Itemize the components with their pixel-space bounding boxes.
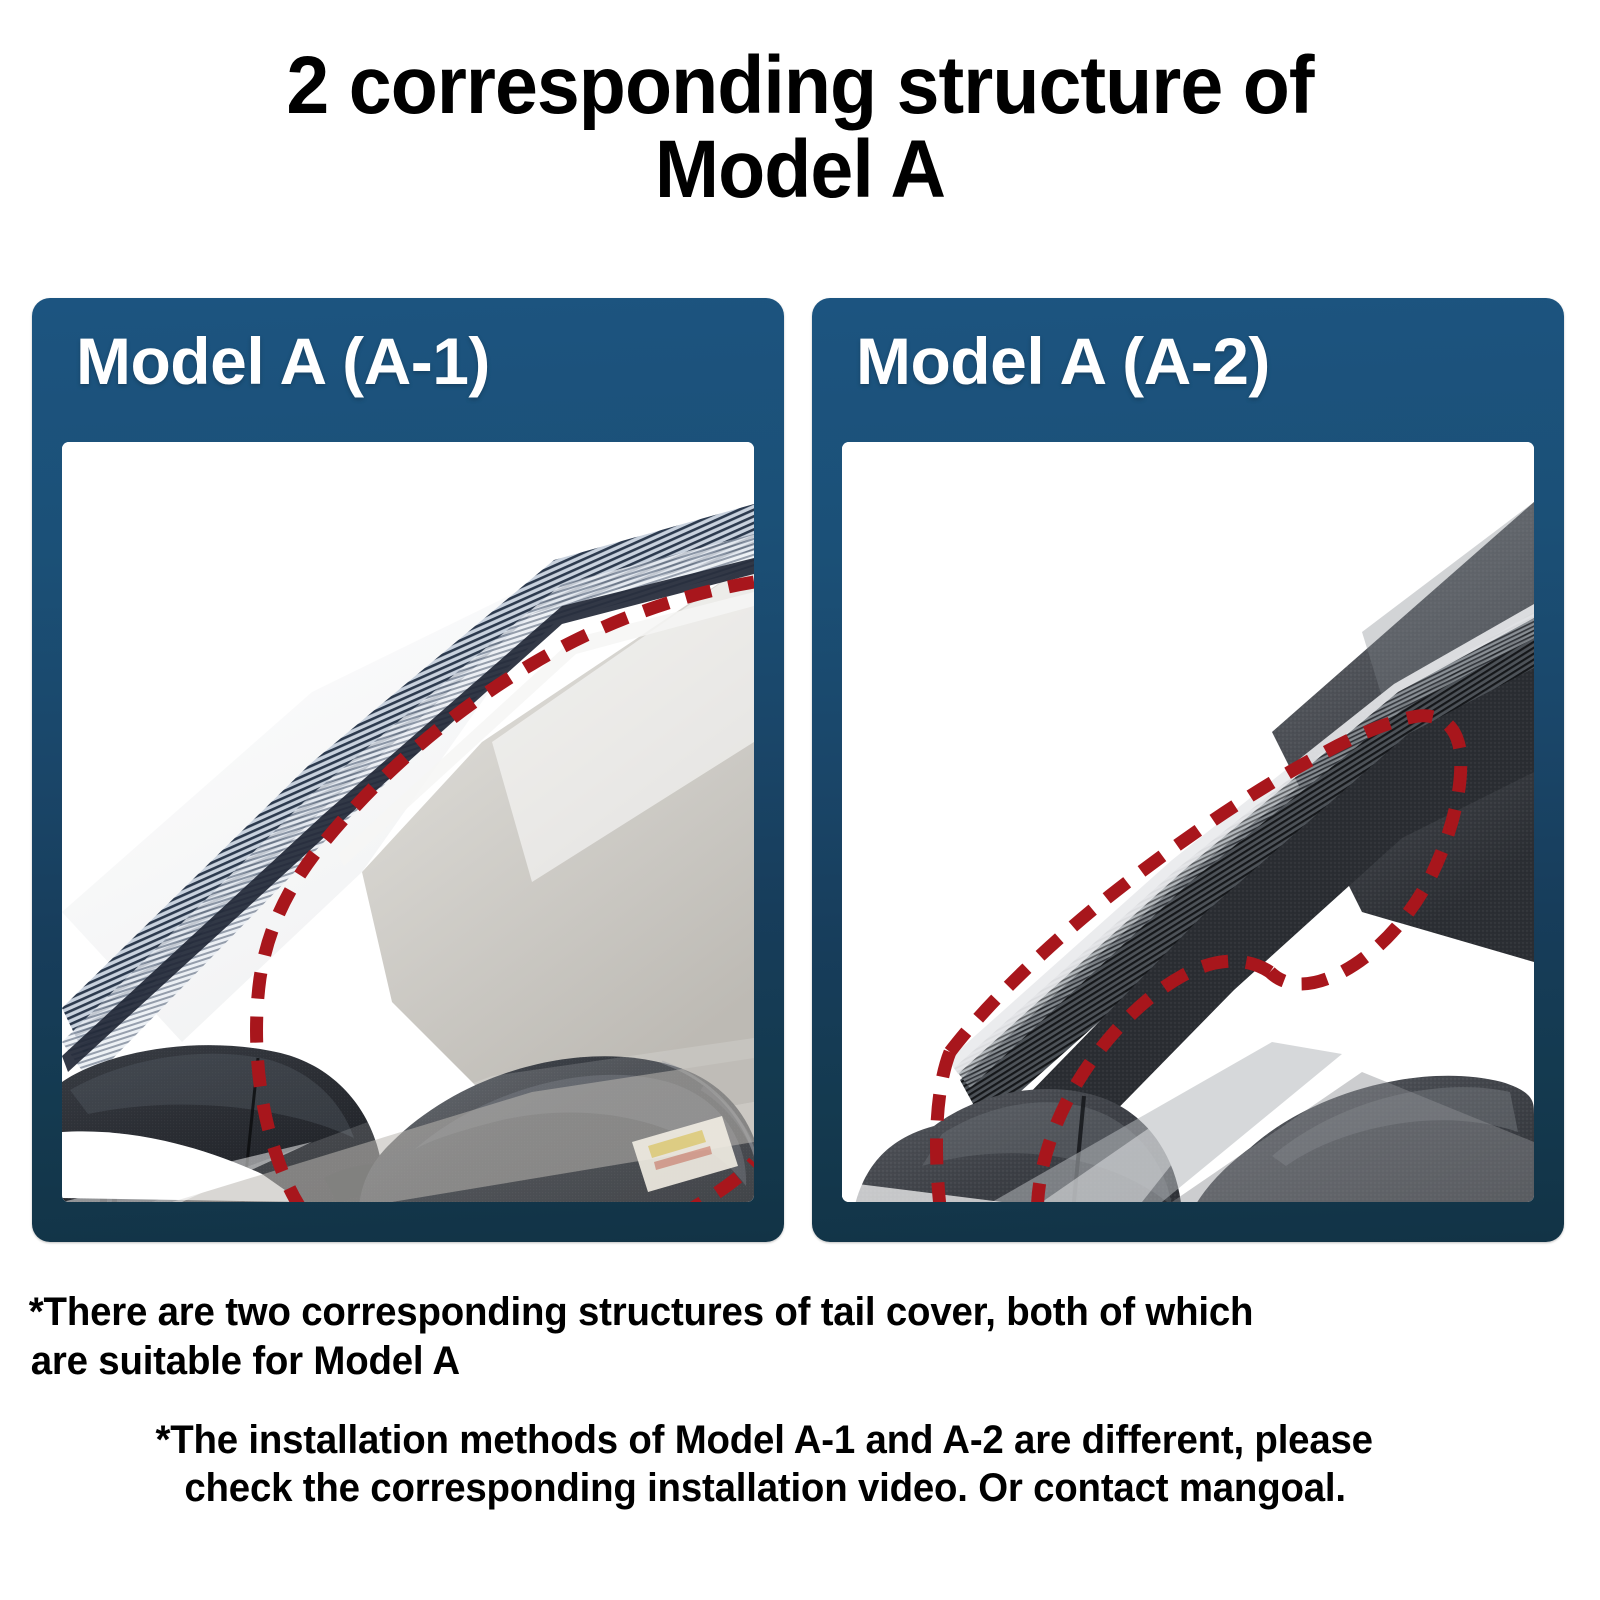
infographic-page: 2 corresponding structure of Model A Mod… [0,0,1600,1600]
panel-model-a-2[interactable]: Model A (A-2) [812,298,1564,1242]
comparison-panels: Model A (A-1) [32,298,1568,1242]
photo-frame-a2[interactable] [842,442,1534,1202]
footnotes: *There are two corresponding structures … [0,1288,1600,1513]
page-title: 2 corresponding structure of Model A [48,44,1552,211]
footnote-2: *The installation methods of Model A-1 a… [0,1416,1536,1514]
photo-frame-a1[interactable] [62,442,754,1202]
windshield-mirror-mount-photo-a1 [62,442,754,1202]
panel-model-a-1[interactable]: Model A (A-1) [32,298,784,1242]
panel-title-a1: Model A (A-1) [76,328,490,394]
footnote-1: *There are two corresponding structures … [0,1288,1536,1386]
panel-title-a2: Model A (A-2) [856,328,1270,394]
windshield-mirror-mount-photo-a2 [842,442,1534,1202]
